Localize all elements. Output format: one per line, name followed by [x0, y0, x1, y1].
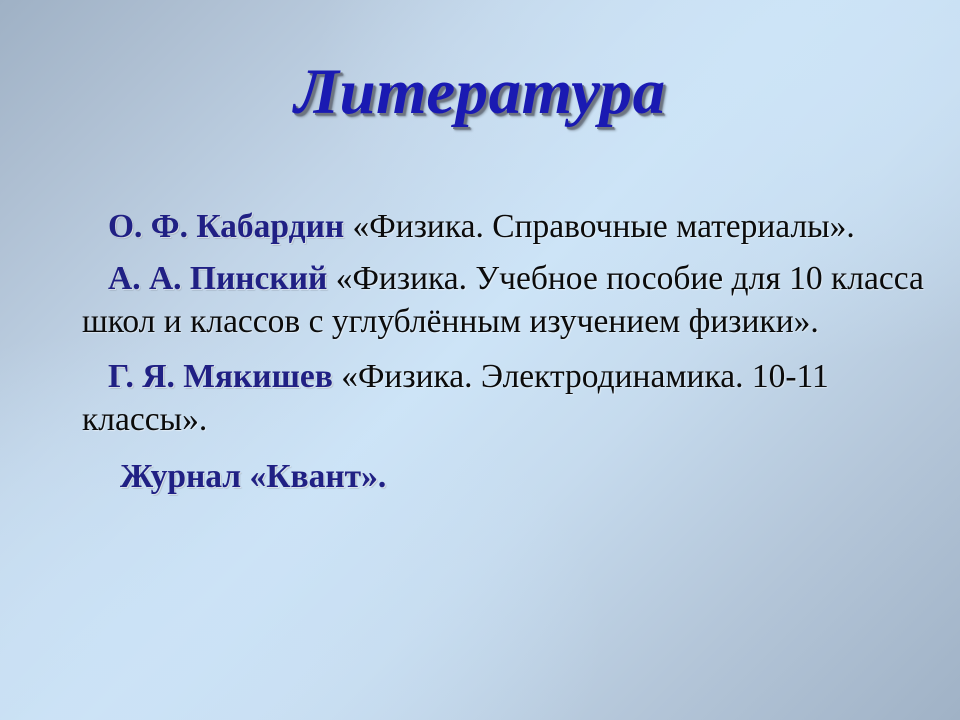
- reference-author: Г. Я. Мякишев: [108, 358, 333, 395]
- slide-canvas: Литература О. Ф. Кабардин «Физика. Справ…: [0, 0, 960, 720]
- list-item: О. Ф. Кабардин «Физика. Справочные матер…: [82, 205, 927, 248]
- reference-author: А. А. Пинский: [108, 260, 327, 297]
- reference-work: «Квант».: [241, 458, 386, 495]
- reference-list: О. Ф. Кабардин «Физика. Справочные матер…: [82, 205, 927, 503]
- reference-author: О. Ф. Кабардин: [108, 208, 344, 245]
- reference-author: Журнал: [120, 458, 241, 495]
- list-item: Журнал «Квант».: [82, 455, 927, 498]
- list-item: Г. Я. Мякишев «Физика. Электродинамика. …: [82, 355, 927, 441]
- reference-work: «Физика. Справочные материалы».: [344, 208, 855, 245]
- list-item: А. А. Пинский «Физика. Учебное пособие д…: [82, 257, 927, 343]
- page-title: Литература: [0, 58, 960, 126]
- slide-content: Литература О. Ф. Кабардин «Физика. Справ…: [0, 0, 960, 720]
